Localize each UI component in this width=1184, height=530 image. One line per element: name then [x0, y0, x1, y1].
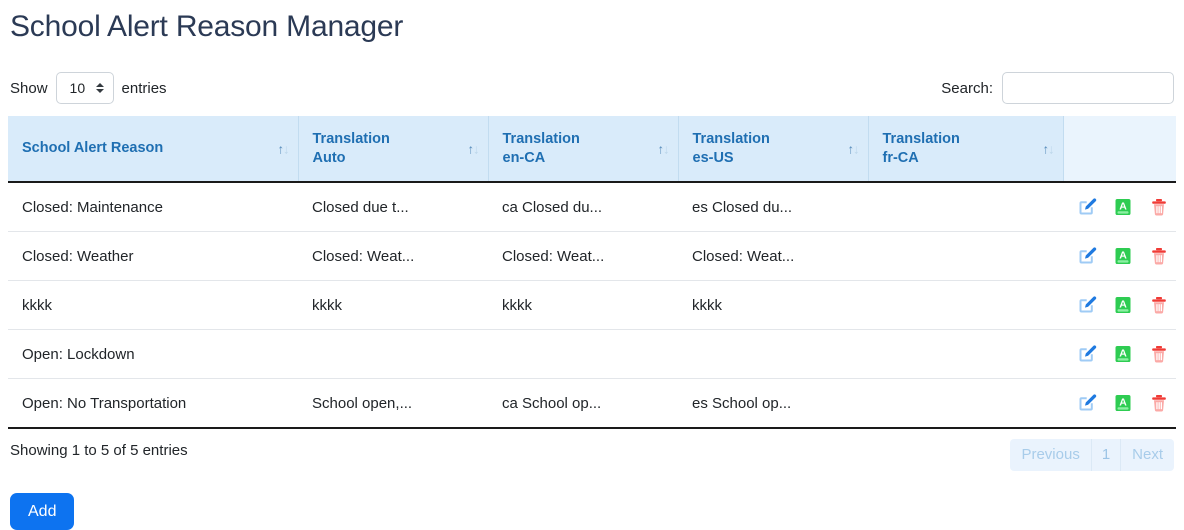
cell-actions: A: [1063, 182, 1176, 232]
cell-translation-auto[interactable]: [298, 330, 488, 379]
show-label: Show: [10, 80, 48, 97]
entries-label: entries: [122, 80, 167, 97]
translate-icon[interactable]: A: [1113, 392, 1133, 414]
page-length-value: 10: [70, 80, 86, 96]
svg-text:A: A: [1119, 299, 1127, 311]
cell-translation-es-us[interactable]: Closed: Weat...: [678, 232, 868, 281]
cell-reason: Closed: Weather: [8, 232, 298, 281]
svg-text:A: A: [1119, 348, 1127, 360]
cell-translation-en-ca[interactable]: kkkk: [488, 281, 678, 330]
table-row: Closed: Maintenance Closed due t... ca C…: [8, 182, 1176, 232]
cell-translation-en-ca[interactable]: Closed: Weat...: [488, 232, 678, 281]
cell-translation-fr-ca[interactable]: [868, 182, 1063, 232]
column-header-translation-es-us[interactable]: Translation es-US ↑↓: [678, 116, 868, 182]
cell-translation-fr-ca[interactable]: [868, 232, 1063, 281]
table-row: Open: Lockdown A: [8, 330, 1176, 379]
delete-icon[interactable]: [1149, 245, 1169, 267]
column-label-line1: Translation: [883, 131, 960, 147]
row-actions: A: [1077, 245, 1162, 267]
delete-icon[interactable]: [1149, 392, 1169, 414]
table-info: Showing 1 to 5 of 5 entries: [10, 442, 188, 459]
edit-icon[interactable]: [1077, 294, 1097, 316]
pagination-next[interactable]: Next: [1121, 439, 1174, 471]
column-header-translation-fr-ca[interactable]: Translation fr-CA ↑↓: [868, 116, 1063, 182]
row-actions: A: [1077, 294, 1162, 316]
row-actions: A: [1077, 343, 1162, 365]
edit-icon[interactable]: [1077, 392, 1097, 414]
table-header: School Alert Reason ↑↓ Translation Auto …: [8, 116, 1176, 182]
cell-reason: Closed: Maintenance: [8, 182, 298, 232]
translate-icon[interactable]: A: [1113, 245, 1133, 267]
sort-icon: ↑↓: [1043, 139, 1054, 158]
cell-actions: A: [1063, 379, 1176, 429]
translate-icon[interactable]: A: [1113, 196, 1133, 218]
table-row: kkkk kkkk kkkk kkkk A: [8, 281, 1176, 330]
page-title: School Alert Reason Manager: [10, 6, 1176, 48]
cell-translation-es-us[interactable]: es Closed du...: [678, 182, 868, 232]
delete-icon[interactable]: [1149, 294, 1169, 316]
cell-reason: kkkk: [8, 281, 298, 330]
column-label-line1: Translation: [503, 131, 580, 147]
table-controls: Show 10 entries Search:: [8, 72, 1176, 112]
delete-icon[interactable]: [1149, 196, 1169, 218]
pagination-previous[interactable]: Previous: [1010, 439, 1091, 471]
search-input[interactable]: [1002, 72, 1174, 104]
row-actions: A: [1077, 392, 1162, 414]
column-header-translation-en-ca[interactable]: Translation en-CA ↑↓: [488, 116, 678, 182]
column-label: School Alert Reason: [22, 139, 284, 158]
cell-translation-es-us[interactable]: kkkk: [678, 281, 868, 330]
chevron-updown-icon: [96, 83, 104, 93]
column-label-line1: Translation: [313, 131, 390, 147]
cell-translation-auto[interactable]: kkkk: [298, 281, 488, 330]
cell-translation-fr-ca[interactable]: [868, 281, 1063, 330]
cell-translation-en-ca[interactable]: [488, 330, 678, 379]
translate-icon[interactable]: A: [1113, 343, 1133, 365]
cell-translation-auto[interactable]: School open,...: [298, 379, 488, 429]
cell-translation-auto[interactable]: Closed due t...: [298, 182, 488, 232]
cell-translation-es-us[interactable]: es School op...: [678, 379, 868, 429]
translate-icon[interactable]: A: [1113, 294, 1133, 316]
edit-icon[interactable]: [1077, 245, 1097, 267]
column-label-line2: Auto: [313, 150, 346, 166]
cell-translation-es-us[interactable]: [678, 330, 868, 379]
sort-icon: ↑↓: [468, 139, 479, 158]
edit-icon[interactable]: [1077, 343, 1097, 365]
column-header-actions: [1063, 116, 1176, 182]
table-row: Open: No Transportation School open,... …: [8, 379, 1176, 429]
cell-translation-fr-ca[interactable]: [868, 330, 1063, 379]
cell-translation-en-ca[interactable]: ca Closed du...: [488, 182, 678, 232]
edit-icon[interactable]: [1077, 196, 1097, 218]
column-label-line1: Translation: [693, 131, 770, 147]
column-label-line2: en-CA: [503, 150, 546, 166]
row-actions: A: [1077, 196, 1162, 218]
sort-icon: ↑↓: [848, 139, 859, 158]
cell-translation-auto[interactable]: Closed: Weat...: [298, 232, 488, 281]
svg-text:A: A: [1119, 250, 1127, 262]
search-control: Search:: [941, 72, 1174, 104]
column-header-translation-auto[interactable]: Translation Auto ↑↓: [298, 116, 488, 182]
svg-text:A: A: [1119, 397, 1127, 409]
sort-icon: ↑↓: [658, 139, 669, 158]
cell-translation-en-ca[interactable]: ca School op...: [488, 379, 678, 429]
svg-text:A: A: [1119, 201, 1127, 213]
table-header-row: School Alert Reason ↑↓ Translation Auto …: [8, 116, 1176, 182]
page-length-control: Show 10 entries: [10, 72, 167, 104]
cell-actions: A: [1063, 232, 1176, 281]
add-button[interactable]: Add: [10, 493, 74, 530]
table-row: Closed: Weather Closed: Weat... Closed: …: [8, 232, 1176, 281]
sort-icon: ↑↓: [278, 139, 289, 158]
table-footer: Showing 1 to 5 of 5 entries Previous 1 N…: [8, 439, 1176, 473]
cell-actions: A: [1063, 330, 1176, 379]
table-body: Closed: Maintenance Closed due t... ca C…: [8, 182, 1176, 428]
page-root: School Alert Reason Manager Show 10 entr…: [0, 6, 1184, 530]
column-label-line2: fr-CA: [883, 150, 919, 166]
page-length-select[interactable]: 10: [56, 72, 114, 104]
cell-translation-fr-ca[interactable]: [868, 379, 1063, 429]
column-label-line2: es-US: [693, 150, 734, 166]
cell-reason: Open: Lockdown: [8, 330, 298, 379]
pagination-page-1[interactable]: 1: [1092, 439, 1121, 471]
delete-icon[interactable]: [1149, 343, 1169, 365]
search-label: Search:: [941, 80, 993, 97]
pagination: Previous 1 Next: [1010, 439, 1174, 471]
column-header-school-alert-reason[interactable]: School Alert Reason ↑↓: [8, 116, 298, 182]
school-alert-reason-table: School Alert Reason ↑↓ Translation Auto …: [8, 116, 1176, 429]
cell-reason: Open: No Transportation: [8, 379, 298, 429]
cell-actions: A: [1063, 281, 1176, 330]
